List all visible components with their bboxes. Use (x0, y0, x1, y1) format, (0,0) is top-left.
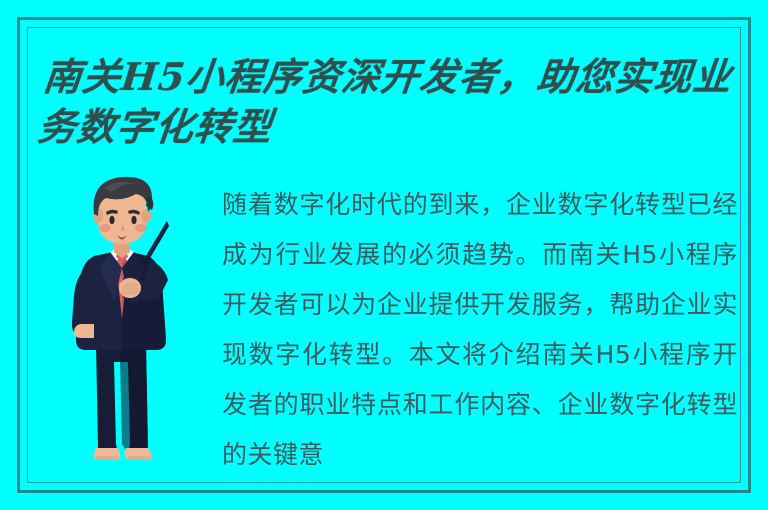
ear-right (141, 209, 151, 223)
cheek-left (99, 224, 111, 232)
article-body-text: 随着数字化时代的到来，企业数字化转型已经成为行业发展的必须趋势。而南关H5小程序… (222, 180, 738, 480)
eye-right (131, 216, 136, 224)
page-title: 南关H5小程序资深开发者，助您实现业务数字化转型 (35, 52, 736, 152)
cheek-right (135, 224, 147, 232)
hand-left (74, 324, 94, 338)
eye-left (109, 216, 114, 224)
businessman-illustration (52, 172, 222, 484)
poster-canvas: 南关H5小程序资深开发者，助您实现业务数字化转型 随着数字化时代的到来，企业数字… (0, 0, 768, 510)
